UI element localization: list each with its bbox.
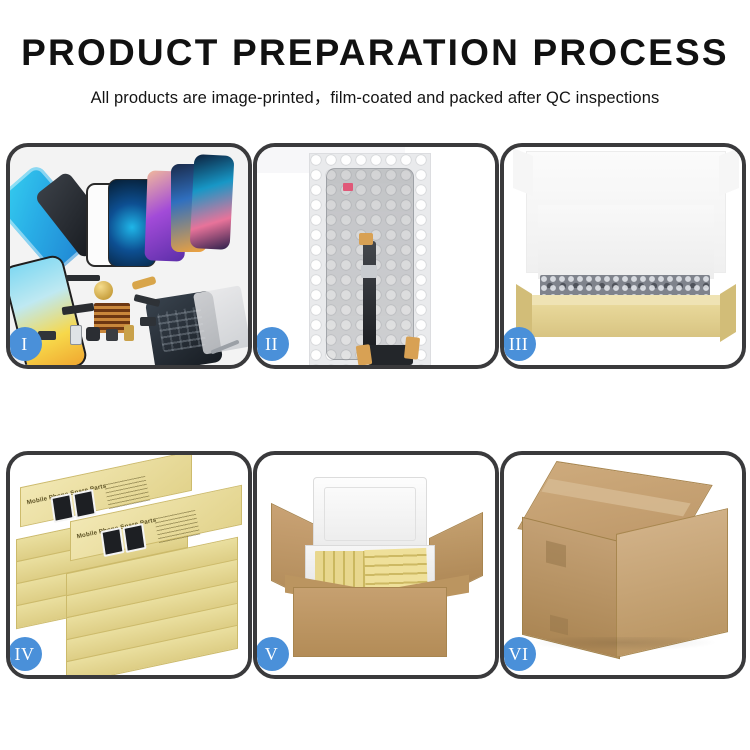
bubble-wrap-bag-icon — [309, 153, 431, 365]
header: PRODUCT PREPARATION PROCESS All products… — [0, 0, 750, 108]
step-panel-5: V — [253, 451, 499, 679]
step-badge-4: IV — [10, 637, 42, 671]
box-screen-thumb-icon — [50, 493, 74, 523]
step-panel-2: II — [253, 143, 499, 369]
small-component-icon — [106, 329, 118, 341]
phone-cyan-icon — [189, 154, 234, 250]
step-2-image: II — [257, 147, 495, 365]
gold-contact-icon — [124, 325, 134, 341]
step-panel-3: III — [500, 143, 746, 369]
gold-pad-1-icon — [359, 233, 373, 245]
foam-box-lid-icon — [313, 477, 427, 551]
gold-pad-2-icon — [355, 344, 372, 365]
pink-label-icon — [343, 183, 353, 191]
lcd-screen-icon — [326, 168, 414, 360]
connector-icon — [361, 265, 377, 278]
page-title: PRODUCT PREPARATION PROCESS — [0, 34, 750, 73]
phones-and-parts-illustration — [10, 147, 248, 365]
sealed-carton-right-icon — [616, 508, 728, 658]
flex-ribbon-icon — [363, 241, 376, 351]
step-panel-1: I — [6, 143, 252, 369]
carton-front-icon — [293, 587, 447, 657]
carton-shadow — [528, 637, 718, 651]
box-screen-thumb-icon — [100, 527, 124, 557]
box-back-wall-icon — [538, 205, 714, 279]
step-badge-5: V — [257, 637, 289, 671]
step-panel-4: Mobile Phone Spare Parts Mobile Phone Sp… — [6, 451, 252, 679]
camera-module-icon — [86, 327, 100, 341]
step-1-image: I — [10, 147, 248, 365]
step-6-image: VI — [504, 455, 742, 675]
step-badge-1: I — [10, 327, 42, 361]
sim-tray-icon — [70, 325, 82, 345]
box-screen-thumb-icon — [72, 489, 96, 519]
product-preparation-infographic: PRODUCT PREPARATION PROCESS All products… — [0, 0, 750, 750]
step-4-image: Mobile Phone Spare Parts Mobile Phone Sp… — [10, 455, 248, 675]
process-steps-grid: I II — [0, 143, 750, 679]
antenna-part-icon — [140, 317, 156, 326]
step-panel-6: VI — [500, 451, 746, 679]
gold-pad-3-icon — [403, 336, 419, 359]
step-badge-3: III — [504, 327, 536, 361]
step-5-image: V — [257, 455, 495, 675]
step-badge-6: VI — [504, 637, 536, 671]
vibration-motor-icon — [94, 281, 113, 300]
step-3-image: III — [504, 147, 742, 365]
step-badge-2: II — [257, 327, 289, 361]
page-subtitle: All products are image-printed，film-coat… — [0, 84, 750, 108]
gold-connector-icon — [131, 276, 156, 290]
speaker-mesh-icon — [66, 275, 100, 281]
retail-box-stack-icon: Mobile Phone Spare Parts Mobile Phone Sp… — [10, 455, 248, 675]
box-screen-thumb-icon — [122, 523, 146, 553]
kraft-box-front-icon — [526, 305, 726, 337]
